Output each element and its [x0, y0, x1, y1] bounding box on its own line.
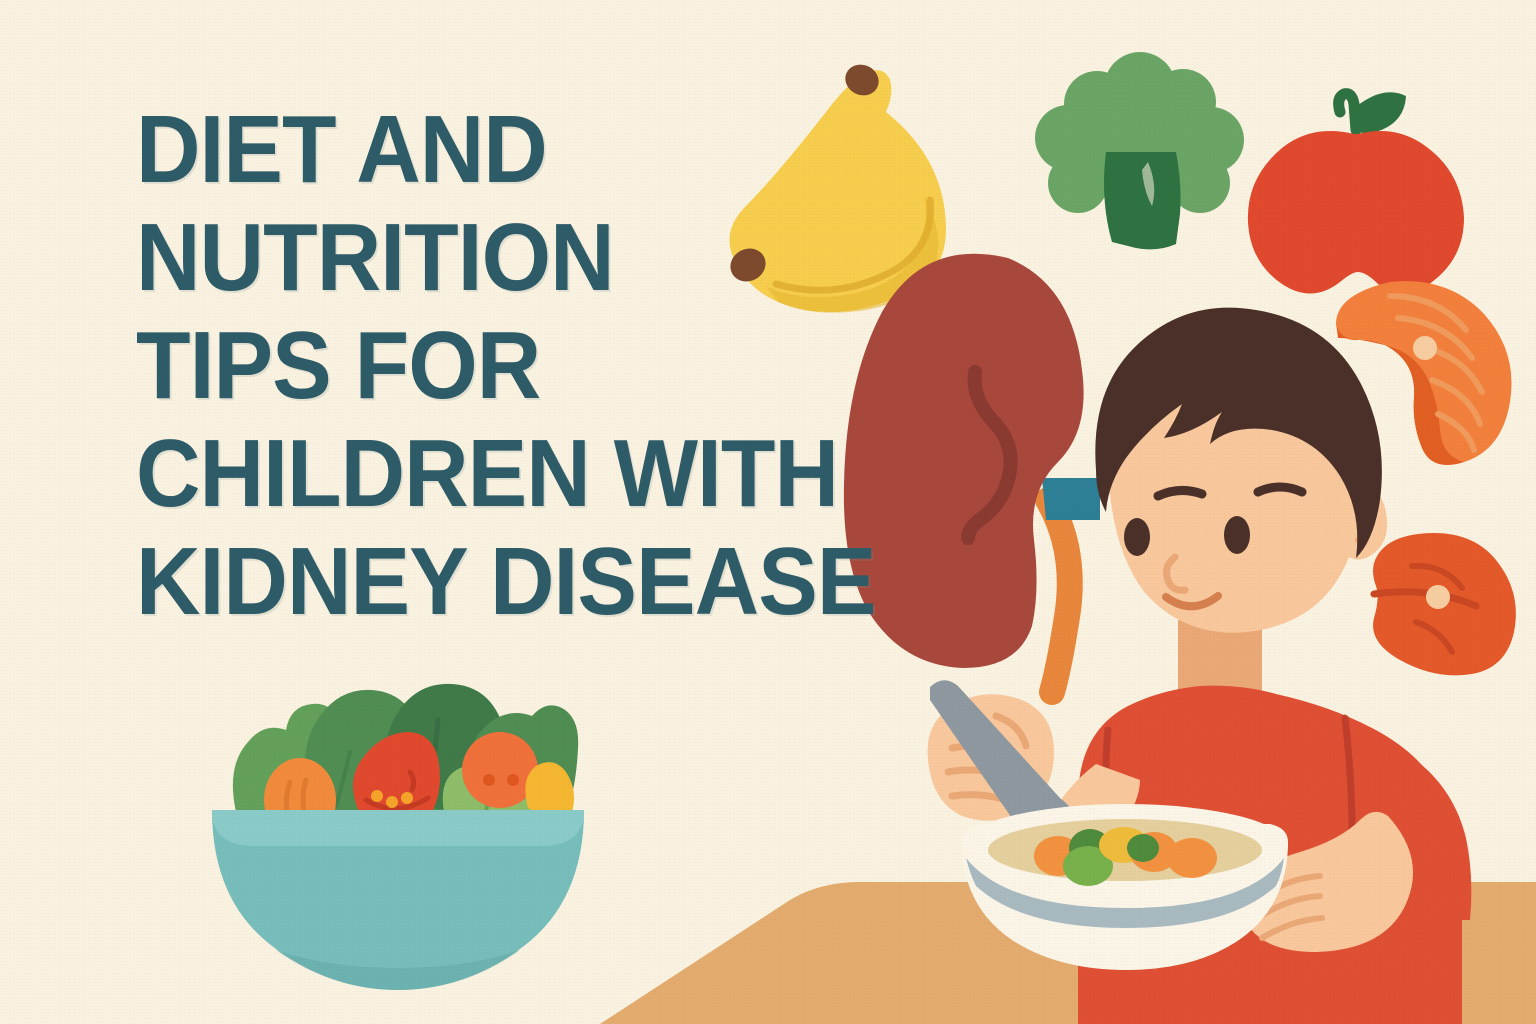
eye-left — [1124, 518, 1150, 556]
poster-canvas: Diet and Nutrition Tips for Children wit… — [0, 0, 1536, 1024]
eye-right — [1224, 516, 1250, 554]
renal-vein — [1042, 478, 1100, 520]
eyebrow-right — [1258, 487, 1302, 492]
illustration-canvas — [0, 0, 1536, 1024]
